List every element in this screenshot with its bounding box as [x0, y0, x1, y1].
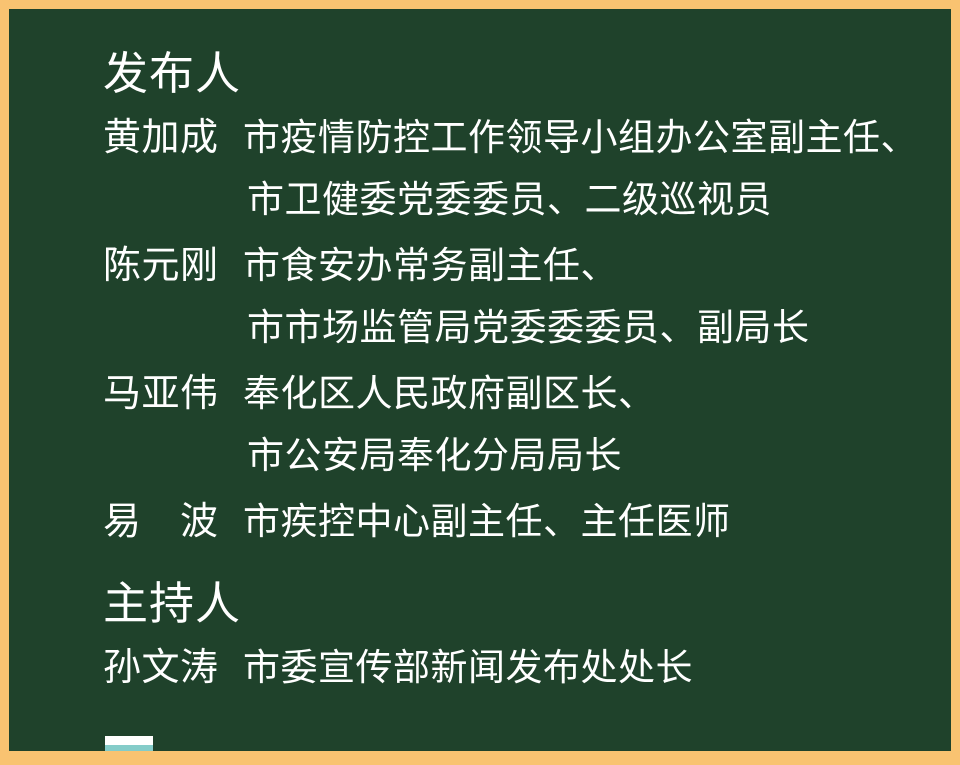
person-title-line: 市委宣传部新闻发布处处长: [243, 637, 941, 699]
person-name: 马亚伟: [103, 363, 243, 425]
person-title-line: 市卫健委党委委员、二级巡视员: [243, 169, 941, 231]
poster-content: 发布人 黄加成 市疫情防控工作领导小组办公室副主任、 市卫健委党委委员、二级巡视…: [103, 45, 941, 751]
hosts-heading: 主持人: [103, 575, 941, 633]
list-item: 黄加成 市疫情防控工作领导小组办公室副主任、 市卫健委党委委员、二级巡视员: [103, 107, 941, 231]
poster-frame: 发布人 黄加成 市疫情防控工作领导小组办公室副主任、 市卫健委党委委员、二级巡视…: [0, 0, 960, 765]
person-name: 易 波: [103, 491, 243, 553]
person-name: 孙文涛: [103, 637, 243, 699]
person-titles: 市疫情防控工作领导小组办公室副主任、 市卫健委党委委员、二级巡视员: [243, 107, 941, 231]
hosts-section: 主持人 孙文涛 市委宣传部新闻发布处处长: [103, 575, 941, 699]
list-item: 陈元刚 市食安办常务副主任、 市市场监管局党委委委员、副局长: [103, 235, 941, 359]
person-name: 陈元刚: [103, 235, 243, 297]
list-item: 易 波 市疾控中心副主任、主任医师: [103, 491, 941, 553]
speakers-section: 发布人 黄加成 市疫情防控工作领导小组办公室副主任、 市卫健委党委委员、二级巡视…: [103, 45, 941, 553]
person-titles: 奉化区人民政府副区长、 市公安局奉化分局局长: [243, 363, 941, 487]
corner-accent-mark: [105, 736, 153, 751]
accent-bar-teal: [105, 745, 153, 751]
person-title-line: 市疫情防控工作领导小组办公室副主任、: [243, 107, 941, 169]
list-item: 孙文涛 市委宣传部新闻发布处处长: [103, 637, 941, 699]
person-name: 黄加成: [103, 107, 243, 169]
poster-board: 发布人 黄加成 市疫情防控工作领导小组办公室副主任、 市卫健委党委委员、二级巡视…: [9, 9, 951, 751]
accent-bar-white: [105, 736, 153, 745]
person-title-line: 市公安局奉化分局局长: [243, 425, 941, 487]
speakers-list: 黄加成 市疫情防控工作领导小组办公室副主任、 市卫健委党委委员、二级巡视员 陈元…: [103, 107, 941, 553]
person-title-line: 市疾控中心副主任、主任医师: [243, 491, 941, 553]
list-item: 马亚伟 奉化区人民政府副区长、 市公安局奉化分局局长: [103, 363, 941, 487]
person-titles: 市食安办常务副主任、 市市场监管局党委委委员、副局长: [243, 235, 941, 359]
hosts-list: 孙文涛 市委宣传部新闻发布处处长: [103, 637, 941, 699]
person-titles: 市疾控中心副主任、主任医师: [243, 491, 941, 553]
person-titles: 市委宣传部新闻发布处处长: [243, 637, 941, 699]
speakers-heading: 发布人: [103, 45, 941, 103]
person-title-line: 市市场监管局党委委委员、副局长: [243, 297, 941, 359]
person-title-line: 市食安办常务副主任、: [243, 235, 941, 297]
person-title-line: 奉化区人民政府副区长、: [243, 363, 941, 425]
